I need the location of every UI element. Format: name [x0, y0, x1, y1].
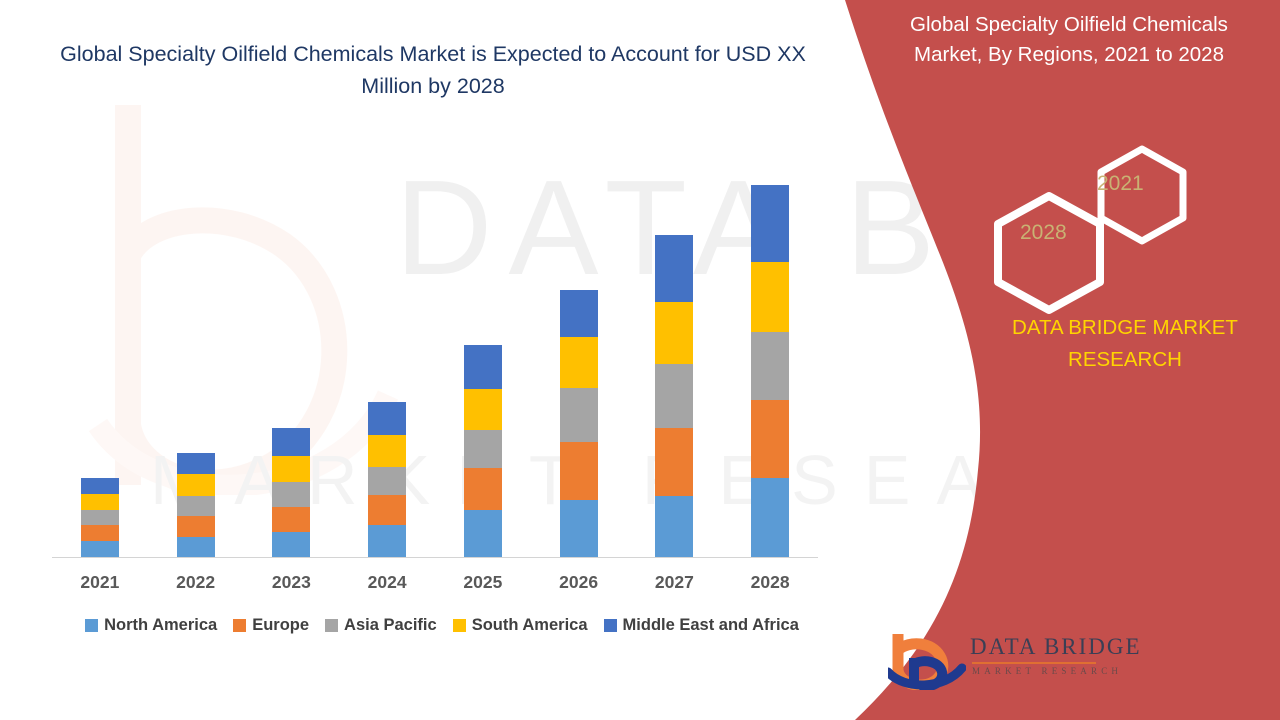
bar-2022[interactable] [177, 453, 215, 557]
legend-swatch-icon [453, 619, 466, 632]
bar-2025[interactable] [464, 345, 502, 557]
x-axis-label-2023: 2023 [251, 572, 331, 593]
bar-segment-2022-asia-pacific[interactable] [177, 496, 215, 516]
legend-item-middle-east-and-africa[interactable]: Middle East and Africa [604, 616, 799, 635]
bar-segment-2023-north-america[interactable] [272, 532, 310, 557]
legend-label: South America [472, 616, 588, 635]
bar-segment-2028-asia-pacific[interactable] [751, 332, 789, 400]
bar-segment-2023-middle-east-and-africa[interactable] [272, 428, 310, 456]
chart-legend: North AmericaEuropeAsia PacificSouth Ame… [52, 616, 832, 635]
hexagon-2028-label: 2028 [1020, 221, 1067, 245]
bar-segment-2027-europe[interactable] [655, 428, 693, 496]
brand-text-line2: RESEARCH [1068, 348, 1182, 371]
bar-segment-2026-asia-pacific[interactable] [560, 388, 598, 442]
bar-segment-2027-asia-pacific[interactable] [655, 364, 693, 428]
bar-segment-2021-north-america[interactable] [81, 541, 119, 557]
right-panel-title: Global Specialty Oilfield Chemicals Mark… [874, 10, 1264, 70]
bar-segment-2027-middle-east-and-africa[interactable] [655, 235, 693, 302]
hexagon-group [990, 145, 1190, 275]
bar-2026[interactable] [560, 290, 598, 557]
bar-segment-2026-south-america[interactable] [560, 337, 598, 388]
bar-segment-2024-europe[interactable] [368, 495, 406, 525]
bar-segment-2027-south-america[interactable] [655, 302, 693, 364]
x-axis-labels: 20212022202320242025202620272028 [52, 572, 818, 600]
legend-label: Middle East and Africa [623, 616, 799, 635]
x-axis-label-2027: 2027 [634, 572, 714, 593]
bar-segment-2023-asia-pacific[interactable] [272, 482, 310, 507]
legend-label: Europe [252, 616, 309, 635]
bar-segment-2022-south-america[interactable] [177, 474, 215, 496]
bar-segment-2024-south-america[interactable] [368, 435, 406, 467]
legend-swatch-icon [85, 619, 98, 632]
hexagon-2028-icon [990, 191, 1108, 315]
bar-segment-2028-north-america[interactable] [751, 478, 789, 557]
bar-segment-2023-europe[interactable] [272, 507, 310, 532]
bar-segment-2024-asia-pacific[interactable] [368, 467, 406, 495]
bar-2024[interactable] [368, 402, 406, 557]
bar-segment-2022-north-america[interactable] [177, 537, 215, 557]
bar-segment-2024-north-america[interactable] [368, 525, 406, 557]
brand-text-line1: DATA BRIDGE MARKET [1012, 316, 1238, 339]
legend-item-north-america[interactable]: North America [85, 616, 217, 635]
bar-segment-2021-south-america[interactable] [81, 494, 119, 510]
bar-segment-2025-north-america[interactable] [464, 510, 502, 557]
bar-segment-2023-south-america[interactable] [272, 456, 310, 482]
bar-segment-2026-europe[interactable] [560, 442, 598, 500]
legend-swatch-icon [325, 619, 338, 632]
x-axis-label-2022: 2022 [156, 572, 236, 593]
brand-text-block: DATA BRIDGE MARKET RESEARCH [970, 312, 1280, 376]
slide-canvas: DATA BRIDGE MARKET RESEARCH Global Speci… [0, 0, 1280, 720]
bar-segment-2021-middle-east-and-africa[interactable] [81, 478, 119, 494]
legend-swatch-icon [604, 619, 617, 632]
bar-segment-2028-middle-east-and-africa[interactable] [751, 185, 789, 262]
legend-item-south-america[interactable]: South America [453, 616, 588, 635]
bar-segment-2025-asia-pacific[interactable] [464, 430, 502, 468]
bar-segment-2026-north-america[interactable] [560, 500, 598, 557]
bar-segment-2028-europe[interactable] [751, 400, 789, 478]
bar-segment-2027-north-america[interactable] [655, 496, 693, 557]
x-axis-label-2024: 2024 [347, 572, 427, 593]
bar-segment-2024-middle-east-and-africa[interactable] [368, 402, 406, 435]
x-axis-label-2021: 2021 [60, 572, 140, 593]
legend-label: Asia Pacific [344, 616, 437, 635]
bar-segment-2022-middle-east-and-africa[interactable] [177, 453, 215, 474]
legend-item-europe[interactable]: Europe [233, 616, 309, 635]
bar-segment-2025-europe[interactable] [464, 468, 502, 510]
bar-segment-2021-asia-pacific[interactable] [81, 510, 119, 525]
bar-segment-2022-europe[interactable] [177, 516, 215, 537]
x-axis-label-2028: 2028 [730, 572, 810, 593]
data-bridge-logo-mark-icon [888, 628, 966, 690]
x-axis-label-2026: 2026 [539, 572, 619, 593]
bar-segment-2021-europe[interactable] [81, 525, 119, 541]
chart-title: Global Specialty Oilfield Chemicals Mark… [38, 38, 828, 102]
bar-2023[interactable] [272, 428, 310, 557]
logo-subtitle: MARKET RESEARCH [972, 666, 1122, 676]
bar-2021[interactable] [81, 478, 119, 557]
legend-item-asia-pacific[interactable]: Asia Pacific [325, 616, 437, 635]
logo-divider [972, 662, 1096, 664]
hexagon-2021-label: 2021 [1097, 172, 1144, 196]
logo-wordmark: DATA BRIDGE [970, 634, 1142, 660]
bar-segment-2028-south-america[interactable] [751, 262, 789, 332]
bar-segment-2026-middle-east-and-africa[interactable] [560, 290, 598, 337]
x-axis-label-2025: 2025 [443, 572, 523, 593]
bar-2027[interactable] [655, 235, 693, 557]
legend-swatch-icon [233, 619, 246, 632]
bar-segment-2025-south-america[interactable] [464, 389, 502, 430]
legend-label: North America [104, 616, 217, 635]
x-axis-line [52, 557, 818, 558]
data-bridge-logo: DATA BRIDGE MARKET RESEARCH [888, 628, 1108, 694]
chart-plot-area [52, 130, 818, 558]
bar-segment-2025-middle-east-and-africa[interactable] [464, 345, 502, 389]
bar-2028[interactable] [751, 185, 789, 557]
